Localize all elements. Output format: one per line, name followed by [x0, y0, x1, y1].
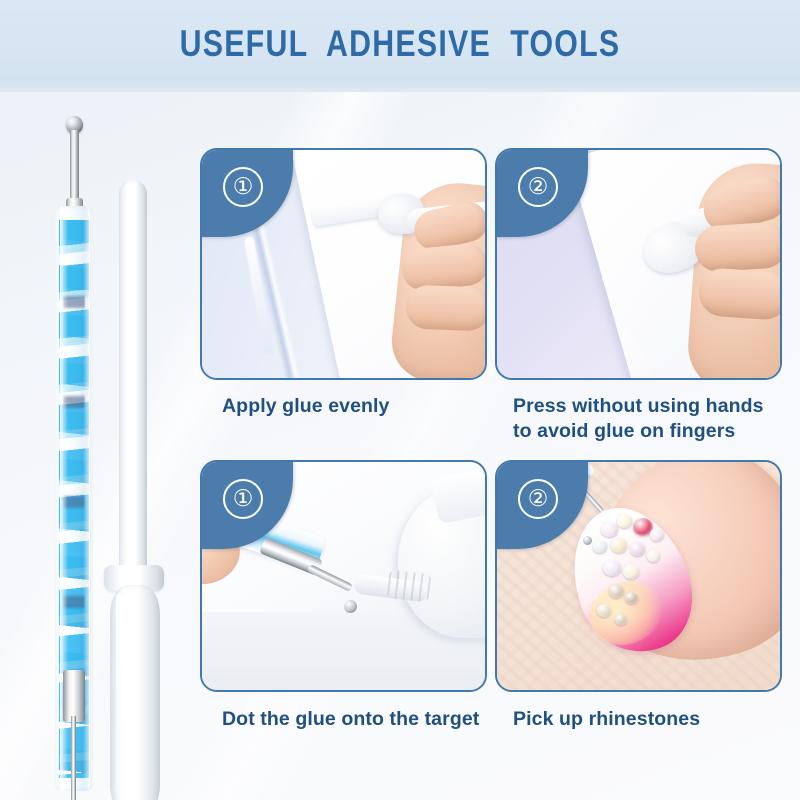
rhinestone: [650, 528, 664, 541]
step-photo-panel-1: ①: [200, 148, 487, 380]
rhinestone: [611, 538, 627, 553]
rhinestone: [593, 540, 607, 553]
rhinestone: [647, 550, 660, 562]
rhinestone: [623, 564, 639, 579]
dropper-stem: [119, 180, 147, 572]
product-showcase: [0, 95, 195, 800]
rhinestone: [603, 560, 621, 576]
step-number-3: ①: [223, 479, 263, 519]
rhinestone: [609, 584, 624, 598]
step-card-4: ② Pick up rhinestones: [495, 460, 782, 732]
steps-grid: ① Apply glue evenly: [200, 148, 790, 748]
rhinestone: [597, 604, 611, 617]
rhinestone: [617, 514, 632, 528]
rhinestone: [601, 522, 618, 537]
step-number-2: ②: [518, 167, 558, 207]
rhinestone: [615, 614, 627, 625]
rhinestone: [625, 592, 638, 604]
step-photo-panel-3: ①: [200, 460, 487, 692]
pen-neck-top: [70, 130, 79, 206]
pen-ferrule-bottom: [63, 670, 85, 722]
step-card-3: ① Dot the glue onto the target: [200, 460, 487, 732]
pen-needle-bottom: [71, 716, 76, 800]
dropper-bulb: [110, 585, 160, 800]
infographic-page: USEFUL ADHESIVE TOOLS: [0, 0, 800, 800]
step-caption-1: Apply glue evenly: [200, 394, 487, 419]
step-number-1: ①: [223, 167, 263, 207]
step-caption-4: Pick up rhinestones: [495, 707, 782, 732]
step-number-4: ②: [518, 479, 558, 519]
rhinestone: [630, 542, 645, 556]
dropper-product: [96, 180, 186, 800]
step-card-1: ① Apply glue evenly: [200, 148, 487, 419]
step-caption-3: Dot the glue onto the target: [200, 707, 487, 732]
step-card-2: ② Press without using hands to avoid glu…: [495, 148, 782, 444]
page-title: USEFUL ADHESIVE TOOLS: [72, 22, 728, 66]
step-photo-panel-2: ②: [495, 148, 782, 380]
dotting-pen-product: [46, 110, 96, 800]
step-photo-panel-4: ②: [495, 460, 782, 692]
step-caption-2: Press without using hands to avoid glue …: [495, 394, 782, 444]
